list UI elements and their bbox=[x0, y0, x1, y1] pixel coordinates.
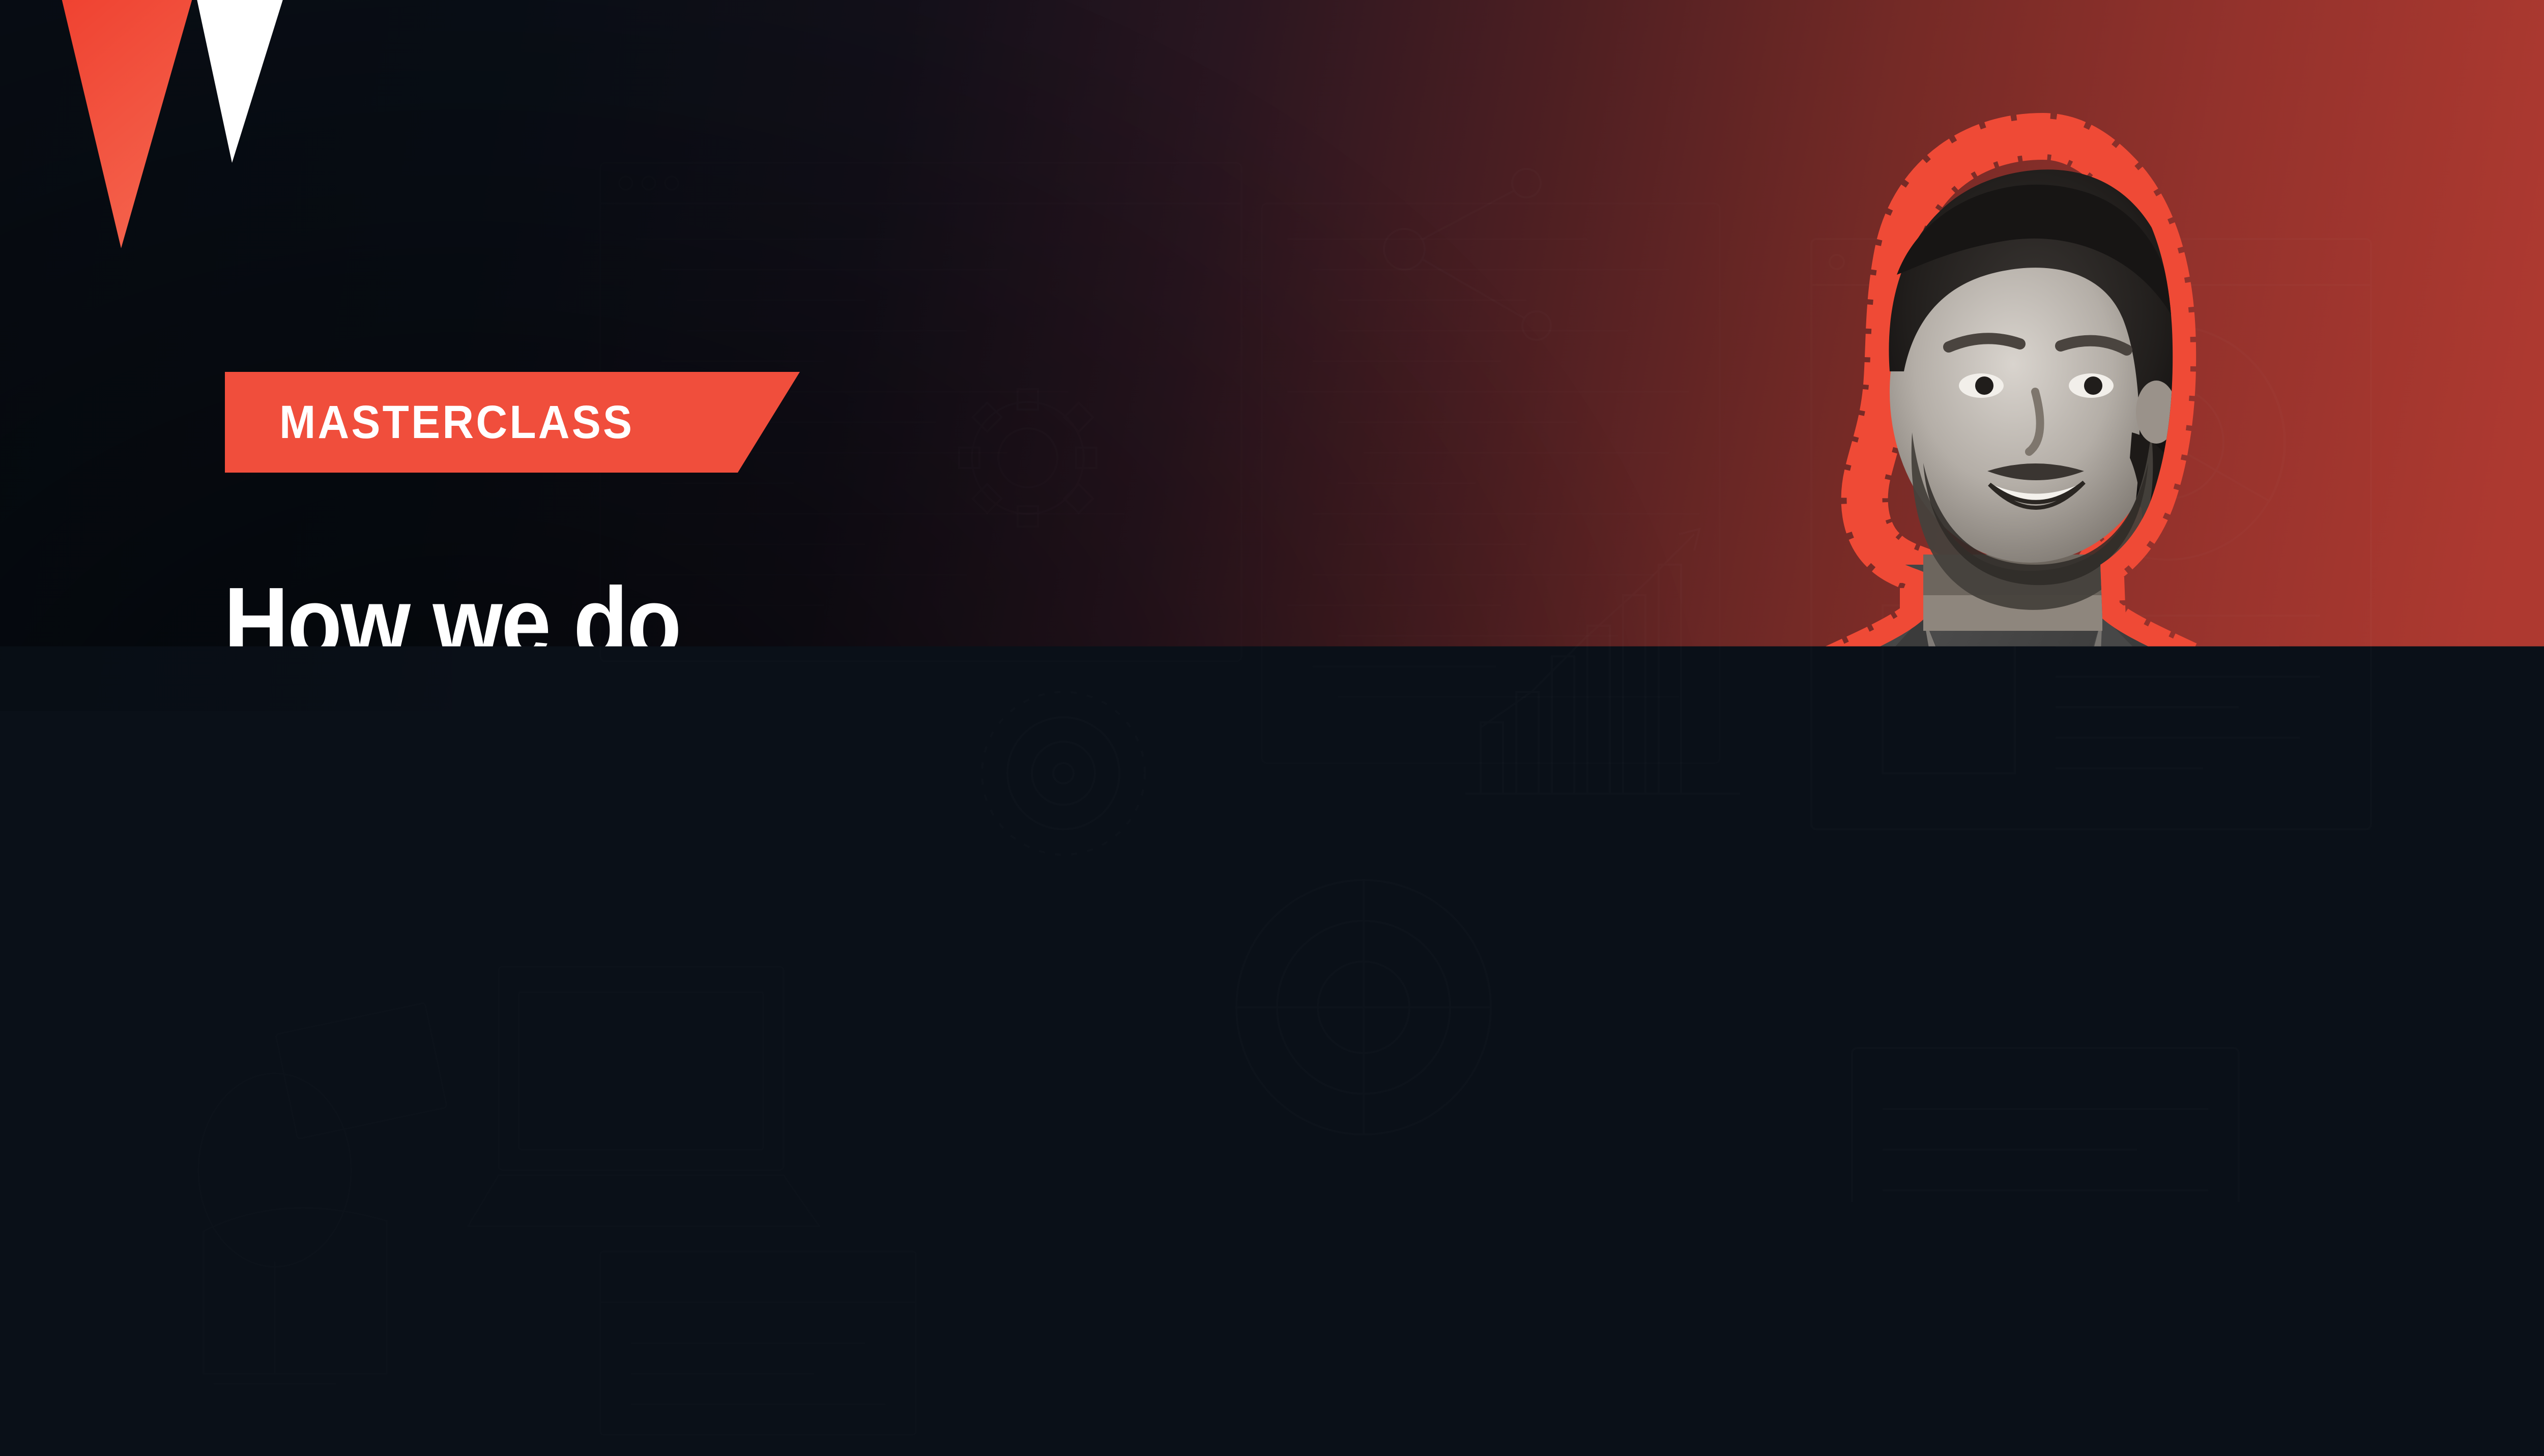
badge-label: MASTERCLASS bbox=[279, 372, 634, 473]
title-line-1: How we do bbox=[224, 571, 1254, 675]
storyblok-speech-bubble-b-logo-icon bbox=[2101, 1340, 2175, 1420]
title-line-2: compensation bbox=[224, 675, 1254, 778]
masterclass-badge: MASTERCLASS bbox=[225, 372, 800, 473]
red-triangle-shape-icon bbox=[890, 809, 1806, 1456]
sponsor-block: Brought to you by storyblok bbox=[2101, 1293, 2499, 1420]
speaker-line: withJohn Bettiol bbox=[224, 968, 558, 1015]
storyblok-wordmark: storyblok bbox=[2192, 1344, 2499, 1416]
masterclass-promo-banner: MASTERCLASS How we do compensation withJ… bbox=[0, 0, 2544, 1456]
sponsor-kicker: Brought to you by bbox=[2101, 1293, 2499, 1320]
speaker-prefix: with bbox=[224, 965, 313, 1018]
speaker-cutout-portrait bbox=[1684, 107, 2427, 1456]
speaker-name: John Bettiol bbox=[325, 965, 558, 1018]
storyblok-logo: storyblok bbox=[2101, 1340, 2499, 1420]
red-white-double-chevron-mark-icon bbox=[0, 0, 661, 285]
page-title: How we do compensation bbox=[224, 571, 1254, 778]
